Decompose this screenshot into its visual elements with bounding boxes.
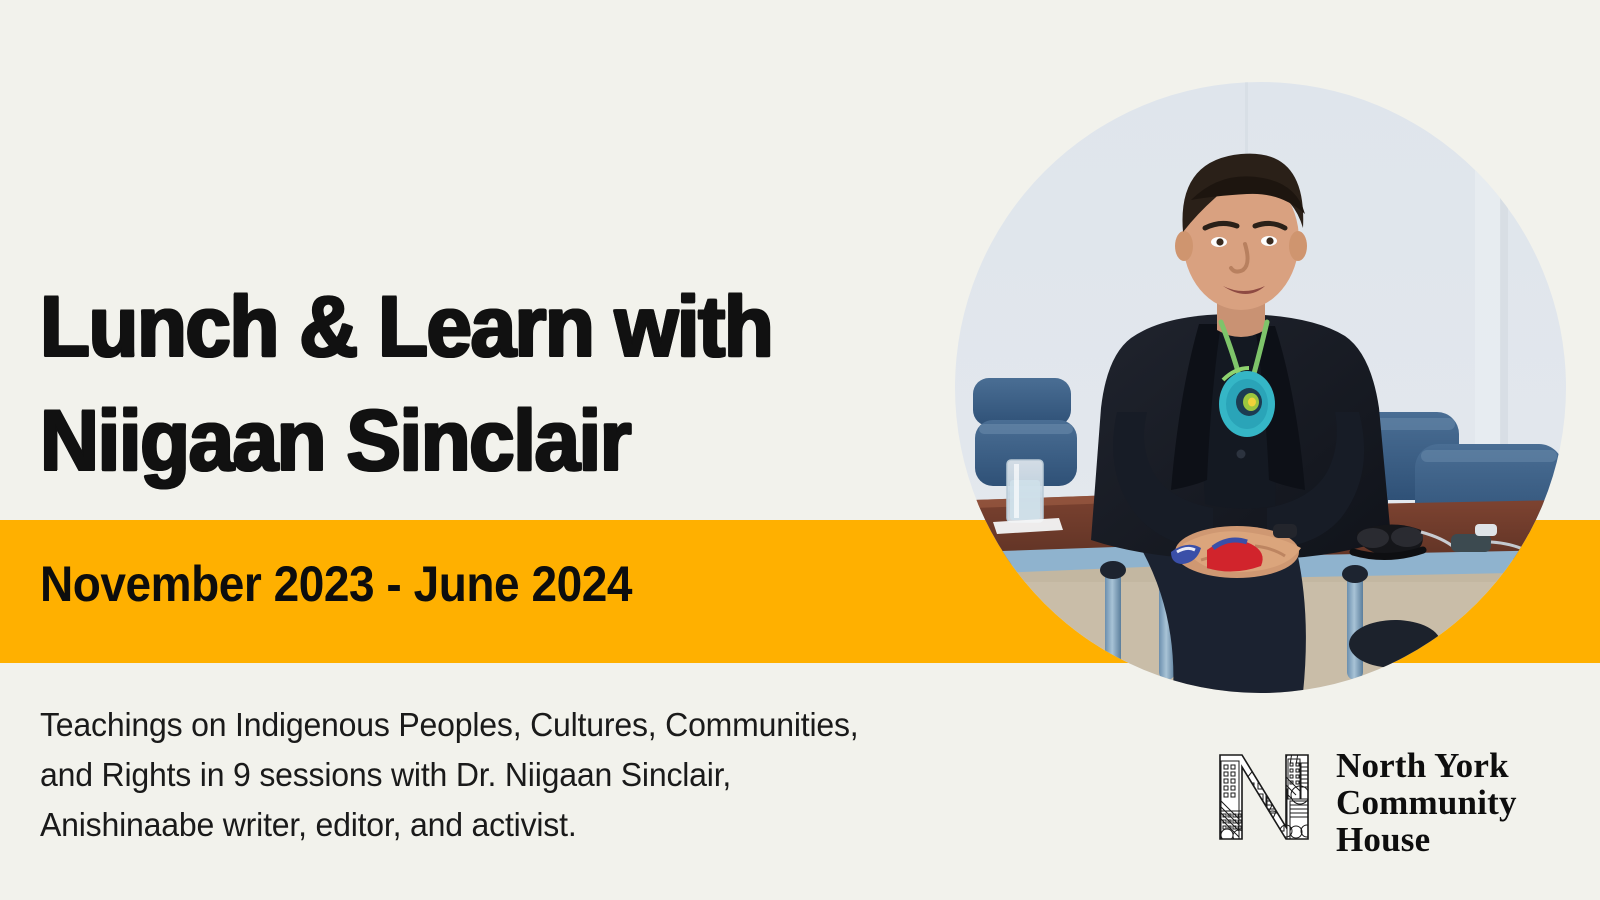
poster-canvas: Lunch & Learn with Niigaan Sinclair Nove… — [0, 0, 1600, 900]
speaker-photo-illustration — [955, 82, 1566, 693]
logo-wordmark: North York Community House — [1336, 745, 1517, 858]
cityscape-logo-icon — [1212, 745, 1316, 849]
date-range-text: November 2023 - June 2024 — [40, 555, 632, 613]
headline-line-2: Niigaan Sinclair — [40, 384, 772, 498]
description-line-1: Teachings on Indigenous Peoples, Culture… — [40, 700, 1078, 750]
speaker-photo — [955, 82, 1566, 693]
description-line-3: Anishinaabe writer, editor, and activist… — [40, 800, 1078, 850]
logo-line-1: North York — [1336, 747, 1517, 784]
description-line-2: and Rights in 9 sessions with Dr. Niigaa… — [40, 750, 1078, 800]
page-title: Lunch & Learn with Niigaan Sinclair — [40, 270, 772, 498]
logo-line-3: House — [1336, 821, 1517, 858]
headline-line-1: Lunch & Learn with — [40, 270, 772, 384]
logo-line-2: Community — [1336, 784, 1517, 821]
description-text: Teachings on Indigenous Peoples, Culture… — [40, 700, 1078, 850]
organization-logo: North York Community House — [1212, 745, 1517, 858]
